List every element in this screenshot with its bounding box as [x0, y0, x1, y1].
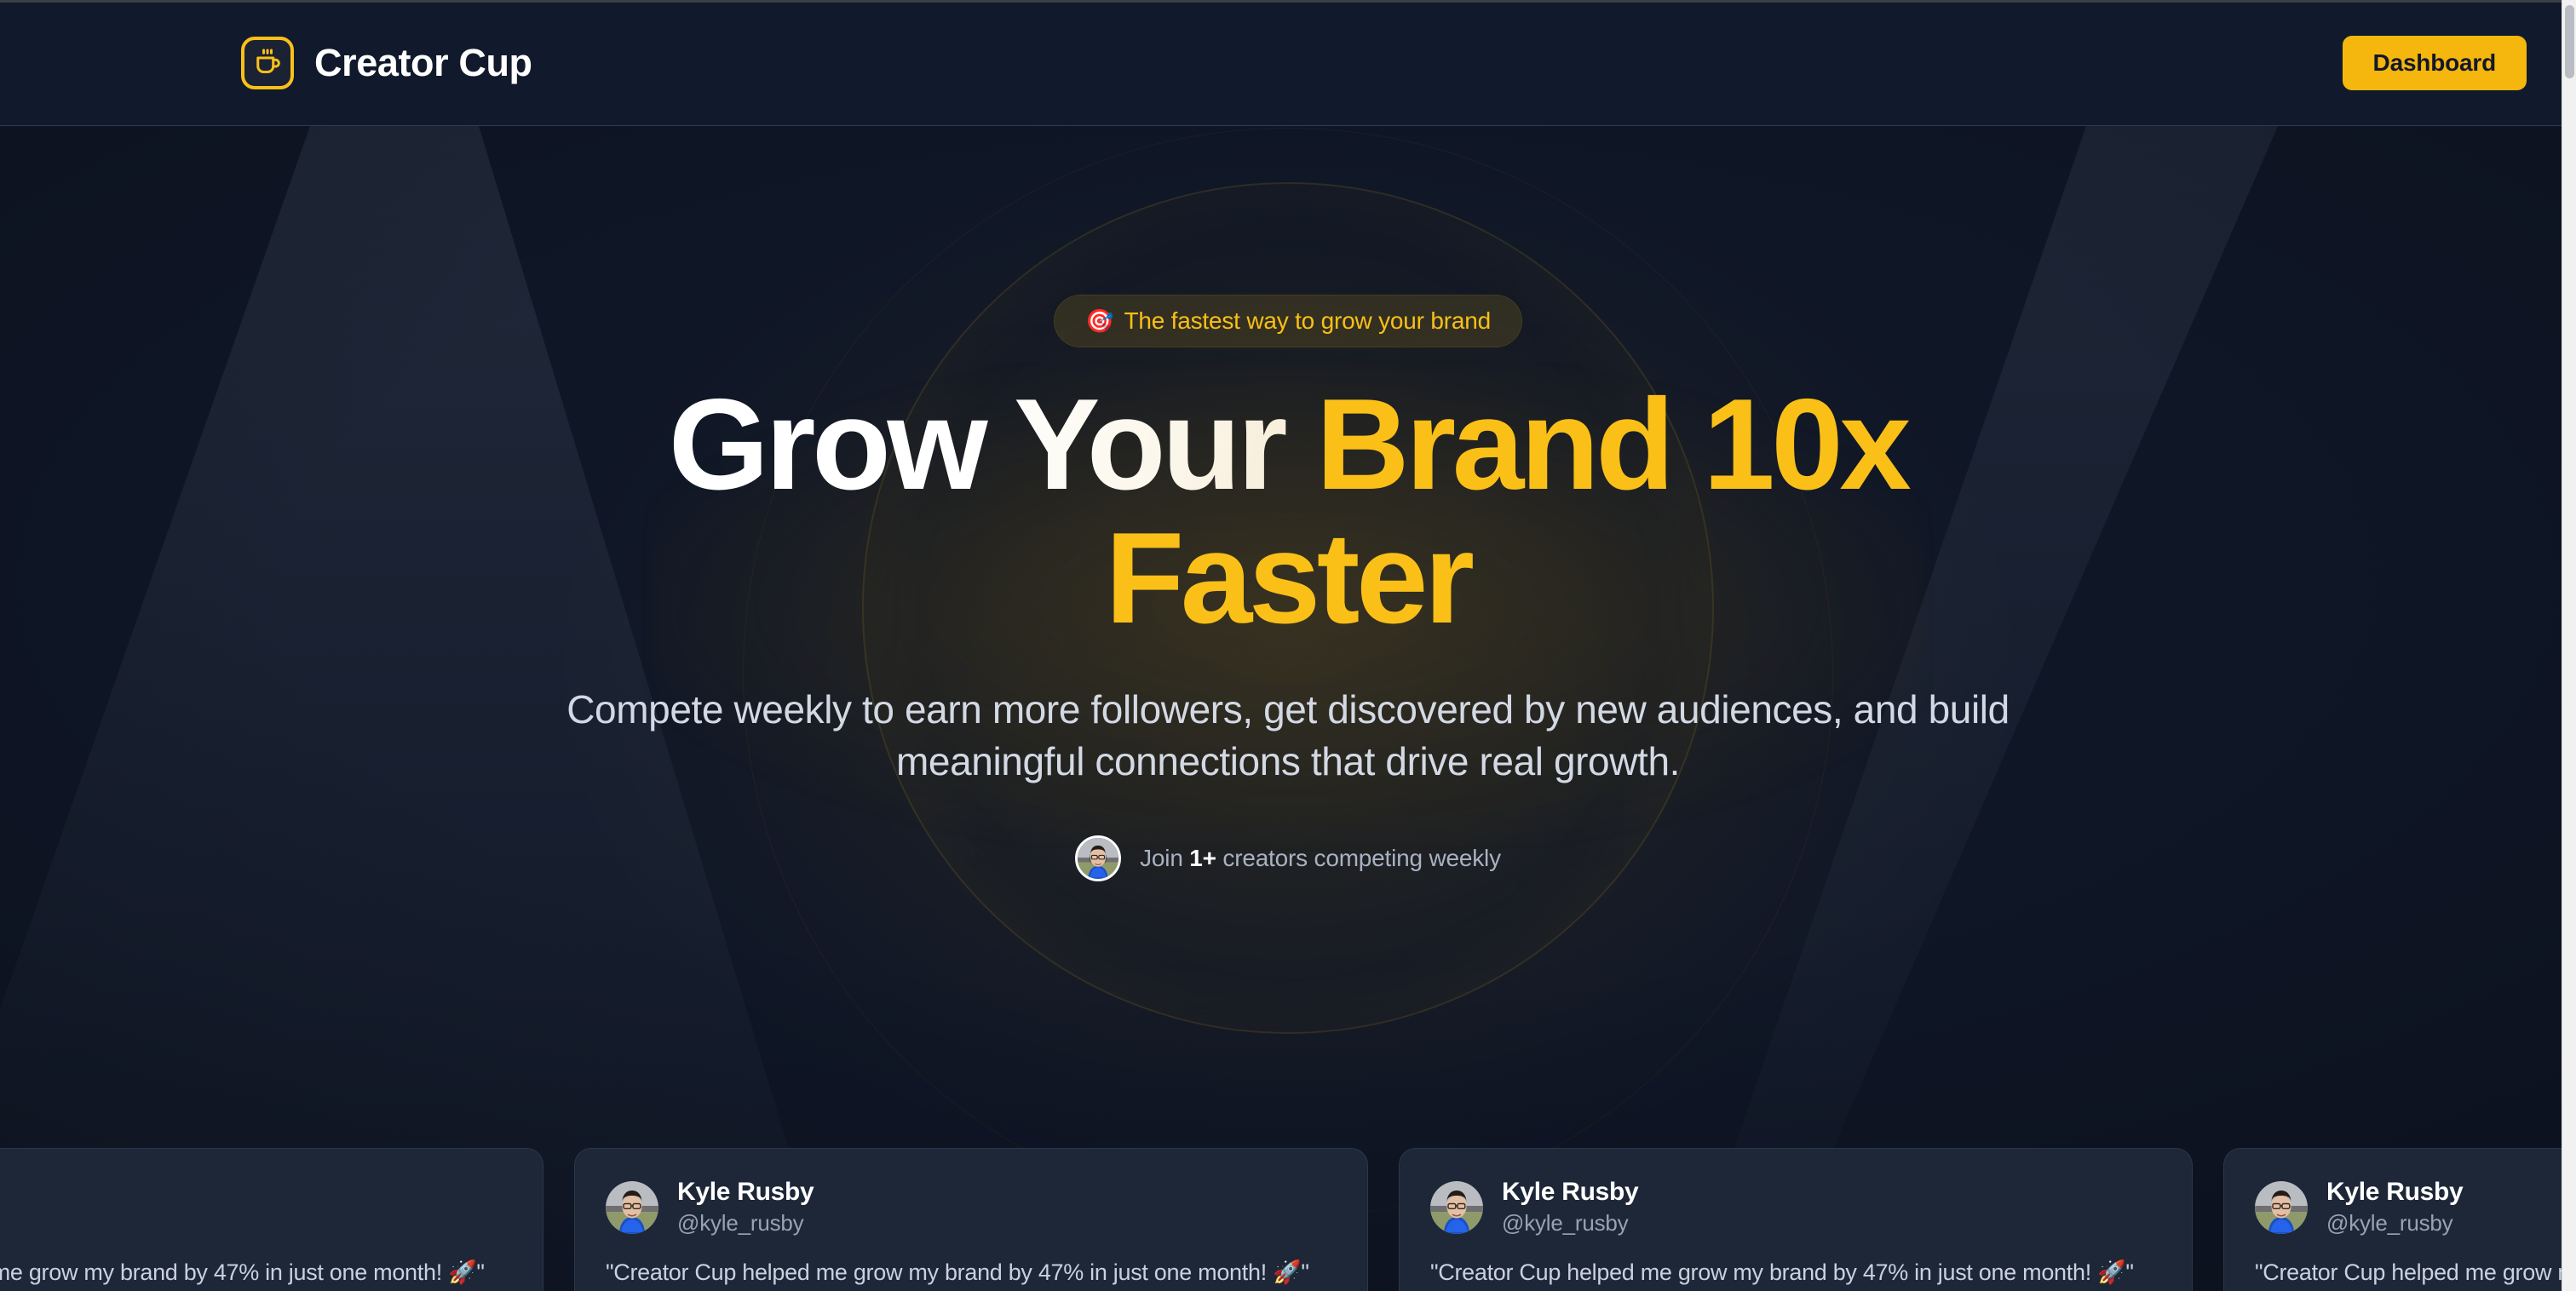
testimonial-quote: "Creator Cup helped me grow my brand by …: [2255, 1259, 2576, 1286]
testimonial-quote: "Creator Cup helped me grow my brand by …: [1430, 1259, 2161, 1286]
scrollbar-thumb[interactable]: [2565, 5, 2574, 78]
testimonial-meta: Kyle Rusby @kyle_rusby: [1502, 1178, 1638, 1236]
testimonial-avatar: [1430, 1181, 1483, 1234]
social-proof-prefix: Join: [1140, 845, 1189, 871]
testimonial-meta: Kyle Rusby @kyle_rusby: [2326, 1178, 2463, 1236]
testimonial-card[interactable]: Kyle Rusby @kyle_rusby "Creator Cup help…: [2223, 1148, 2576, 1291]
brand-logo-link[interactable]: Creator Cup: [241, 37, 532, 89]
social-proof-suffix: creators competing weekly: [1216, 845, 1501, 871]
dashboard-button[interactable]: Dashboard: [2343, 36, 2527, 90]
social-proof-count: 1+: [1189, 845, 1216, 871]
hero-subtitle: Compete weekly to earn more followers, g…: [521, 684, 2055, 788]
testimonial-handle: @kyle_rusby: [1502, 1210, 1638, 1236]
testimonial-card[interactable]: Kyle Rusby @kyle_rusby "Creator Cup help…: [0, 1148, 543, 1291]
hero-title-amber-2: Faster: [1105, 506, 1470, 651]
testimonial-card[interactable]: Kyle Rusby @kyle_rusby "Creator Cup help…: [574, 1148, 1368, 1291]
page-scrollbar[interactable]: [2562, 0, 2576, 1291]
testimonial-card[interactable]: Kyle Rusby @kyle_rusby "Creator Cup help…: [1399, 1148, 2193, 1291]
testimonial-handle: @kyle_rusby: [677, 1210, 814, 1236]
testimonial-meta: Kyle Rusby @kyle_rusby: [677, 1178, 814, 1236]
testimonial-name: Kyle Rusby: [2326, 1178, 2463, 1207]
testimonial-name: Kyle Rusby: [677, 1178, 814, 1207]
testimonial-header: Kyle Rusby @kyle_rusby: [2255, 1178, 2576, 1236]
testimonial-quote: "Creator Cup helped me grow my brand by …: [606, 1259, 1337, 1286]
dart-target-emoji: 🎯: [1085, 310, 1113, 333]
coffee-cup-icon: [241, 37, 294, 89]
social-proof-text: Join 1+ creators competing weekly: [1140, 845, 1501, 872]
hero-title-white: Grow Your: [669, 372, 1316, 517]
testimonial-name: Kyle Rusby: [1502, 1178, 1638, 1207]
testimonial-header: Kyle Rusby @kyle_rusby: [0, 1178, 512, 1236]
creator-avatar: [1075, 835, 1121, 881]
hero-section: 🎯 The fastest way to grow your brand Gro…: [0, 126, 2576, 1162]
hero-badge[interactable]: 🎯 The fastest way to grow your brand: [1054, 295, 1522, 347]
marquee-track: Kyle Rusby @kyle_rusby "Creator Cup help…: [0, 1148, 2576, 1291]
window-top-edge: [0, 0, 2562, 3]
testimonial-header: Kyle Rusby @kyle_rusby: [606, 1178, 1337, 1236]
testimonial-avatar: [606, 1181, 658, 1234]
brand-name: Creator Cup: [314, 43, 532, 82]
testimonial-handle: @kyle_rusby: [2326, 1210, 2463, 1236]
social-proof: Join 1+ creators competing weekly: [1075, 835, 1501, 881]
site-header: Creator Cup Dashboard: [0, 0, 2576, 126]
page-title: Grow Your Brand 10x Faster: [669, 378, 1908, 645]
testimonial-quote: "Creator Cup helped me grow my brand by …: [0, 1259, 512, 1286]
testimonial-header: Kyle Rusby @kyle_rusby: [1430, 1178, 2161, 1236]
testimonial-avatar: [2255, 1181, 2308, 1234]
hero-badge-text: The fastest way to grow your brand: [1124, 307, 1491, 335]
testimonial-marquee[interactable]: Kyle Rusby @kyle_rusby "Creator Cup help…: [0, 1148, 2576, 1291]
hero-title-amber-1: Brand 10x: [1316, 372, 1908, 517]
page-root: Creator Cup Dashboard 🎯 The fastest way …: [0, 0, 2576, 1291]
